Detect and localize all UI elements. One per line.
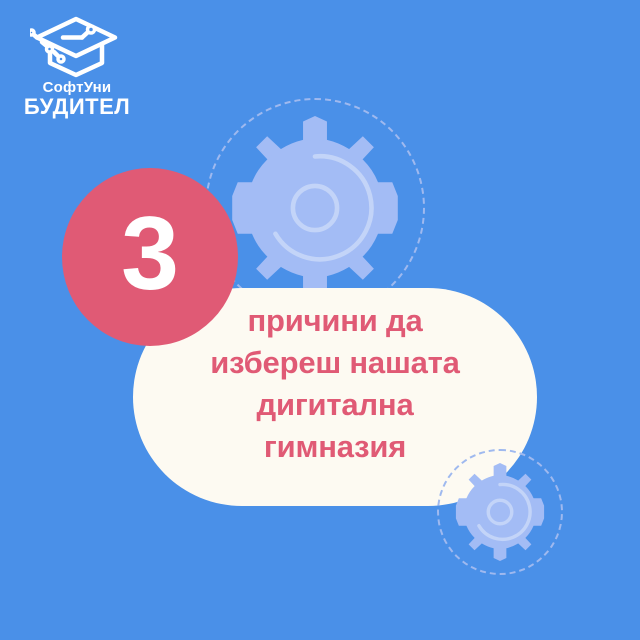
- promo-graphic: причини да избереш нашата дигитална гимн…: [0, 0, 640, 640]
- logo-line-softuni: СофтУни: [18, 80, 136, 95]
- logo-wordmark: СофтУни БУДИТЕЛ: [18, 80, 136, 118]
- number-badge-value: 3: [62, 168, 238, 346]
- headline-line-4: гимназия: [150, 426, 520, 468]
- gear-icon: [223, 116, 407, 300]
- gear-icon: [451, 463, 549, 561]
- graduation-cap-circuit-icon: [30, 14, 122, 78]
- headline-line-2: избереш нашата: [150, 342, 520, 384]
- brand-logo: СофтУни БУДИТЕЛ: [18, 14, 136, 122]
- gear-decoration-large: [205, 98, 425, 318]
- logo-line-buditel: БУДИТЕЛ: [18, 96, 136, 118]
- headline-line-3: дигитална: [150, 384, 520, 426]
- number-badge: 3: [62, 168, 238, 346]
